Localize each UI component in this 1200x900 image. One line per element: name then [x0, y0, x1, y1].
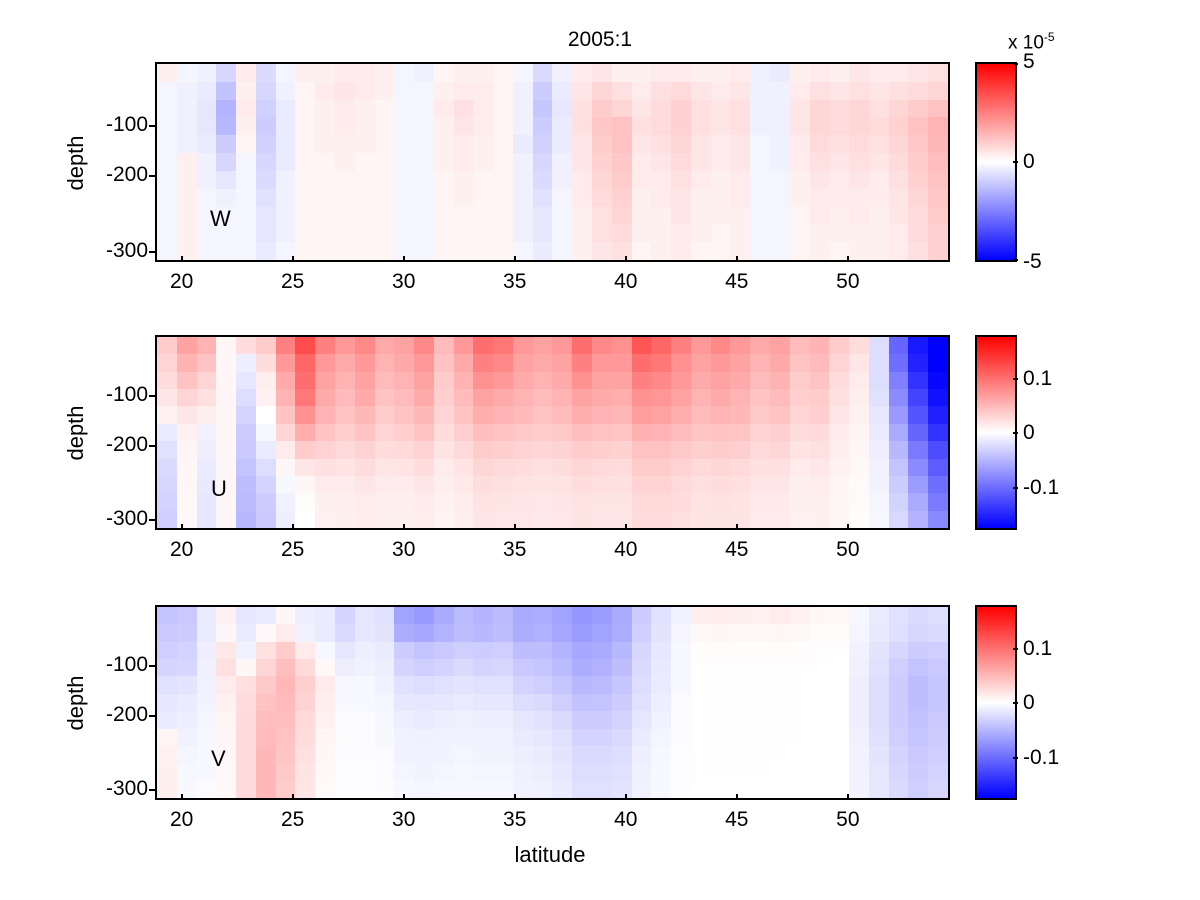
heatmap-cell: [612, 389, 632, 406]
heatmap-cell: [552, 729, 572, 746]
heatmap-cell: [473, 117, 493, 135]
heatmap-cell: [454, 659, 474, 676]
heatmap-cell: [750, 406, 770, 423]
heatmap-cell: [810, 659, 830, 676]
heatmap-cell: [295, 82, 315, 100]
heatmap-cell: [552, 642, 572, 659]
heatmap-cell: [513, 389, 533, 406]
heatmap-cell: [493, 337, 513, 354]
heatmap-cell: [928, 406, 948, 423]
heatmap-cell: [335, 153, 355, 171]
heatmap-cell: [928, 389, 948, 406]
heatmap-cell: [730, 372, 750, 389]
heatmap-cell: [473, 406, 493, 423]
heatmap-cell: [889, 459, 909, 476]
heatmap-cell: [394, 171, 414, 189]
heatmap-cell: [592, 135, 612, 153]
heatmap-cell: [355, 135, 375, 153]
heatmap-cell: [632, 459, 652, 476]
heatmap-cell: [315, 117, 335, 135]
heatmap-cell: [216, 189, 236, 207]
heatmap-cell: [552, 372, 572, 389]
heatmap-cell: [671, 389, 691, 406]
heatmap-cell: [612, 746, 632, 763]
heatmap-cell: [256, 511, 276, 528]
heatmap-cell: [750, 711, 770, 728]
heatmap-cell: [928, 729, 948, 746]
heatmap-cell: [197, 607, 217, 624]
x-tick-mark-v-4: [625, 794, 627, 800]
heatmap-cell: [473, 729, 493, 746]
heatmap-cell: [711, 424, 731, 441]
heatmap-cell: [197, 781, 217, 798]
heatmap-cell: [295, 711, 315, 728]
heatmap-cell: [849, 389, 869, 406]
heatmap-cell: [197, 406, 217, 423]
heatmap-cell: [513, 171, 533, 189]
heatmap-cell: [375, 659, 395, 676]
heatmap-cell: [829, 424, 849, 441]
x-tick-mark-w-1: [292, 256, 294, 262]
heatmap-cell: [236, 82, 256, 100]
heatmap-cell: [908, 406, 928, 423]
heatmap-cell: [473, 511, 493, 528]
heatmap-cell: [671, 746, 691, 763]
heatmap-cell: [849, 171, 869, 189]
heatmap-cell: [335, 676, 355, 693]
heatmap-cell: [928, 624, 948, 641]
heatmap-cell: [691, 372, 711, 389]
heatmap-cell: [236, 135, 256, 153]
heatmap-cell: [454, 372, 474, 389]
heatmap-cell: [572, 135, 592, 153]
heatmap-cell: [493, 64, 513, 82]
heatmap-cell: [513, 354, 533, 371]
heatmap-cell: [434, 729, 454, 746]
heatmap-cell: [216, 642, 236, 659]
heatmap-cell: [454, 153, 474, 171]
heatmap-cell: [335, 207, 355, 225]
heatmap-cell: [216, 117, 236, 135]
heatmap-grid-u: [157, 337, 948, 528]
heatmap-cell: [256, 171, 276, 189]
heatmap-cell: [810, 135, 830, 153]
heatmap-cell: [651, 676, 671, 693]
heatmap-cell: [750, 372, 770, 389]
heatmap-cell: [315, 746, 335, 763]
heatmap-cell: [632, 372, 652, 389]
heatmap-cell: [829, 207, 849, 225]
heatmap-cell: [197, 389, 217, 406]
heatmap-cell: [355, 642, 375, 659]
colorbar-tick-v-2: -0.1: [1023, 746, 1059, 770]
heatmap-cell: [513, 624, 533, 641]
heatmap-cell: [849, 189, 869, 207]
heatmap-cell: [889, 607, 909, 624]
heatmap-cell: [552, 424, 572, 441]
heatmap-cell: [473, 659, 493, 676]
heatmap-cell: [730, 354, 750, 371]
heatmap-cell: [849, 781, 869, 798]
heatmap-cell: [810, 441, 830, 458]
heatmap-cell: [454, 476, 474, 493]
heatmap-cell: [513, 189, 533, 207]
heatmap-cell: [454, 676, 474, 693]
heatmap-cell: [414, 729, 434, 746]
heatmap-cell: [572, 459, 592, 476]
heatmap-cell: [572, 117, 592, 135]
heatmap-cell: [197, 694, 217, 711]
heatmap-cell: [730, 424, 750, 441]
axes-w[interactable]: [155, 62, 950, 262]
heatmap-cell: [849, 135, 869, 153]
heatmap-cell: [295, 441, 315, 458]
heatmap-cell: [177, 459, 197, 476]
heatmap-cell: [810, 694, 830, 711]
heatmap-cell: [869, 694, 889, 711]
heatmap-cell: [335, 607, 355, 624]
heatmap-cell: [770, 135, 790, 153]
heatmap-cell: [533, 459, 553, 476]
heatmap-cell: [869, 135, 889, 153]
heatmap-cell: [375, 64, 395, 82]
heatmap-cell: [770, 100, 790, 118]
heatmap-cell: [691, 242, 711, 260]
heatmap-cell: [770, 659, 790, 676]
heatmap-cell: [810, 82, 830, 100]
heatmap-cell: [592, 424, 612, 441]
heatmap-cell: [276, 189, 296, 207]
colorbar-u[interactable]: [975, 335, 1017, 530]
heatmap-cell: [414, 676, 434, 693]
heatmap-cell: [315, 100, 335, 118]
heatmap-cell: [454, 242, 474, 260]
heatmap-cell: [493, 189, 513, 207]
heatmap-cell: [750, 607, 770, 624]
heatmap-cell: [513, 694, 533, 711]
heatmap-cell: [711, 82, 731, 100]
heatmap-cell: [513, 476, 533, 493]
heatmap-cell: [671, 511, 691, 528]
heatmap-cell: [315, 224, 335, 242]
heatmap-cell: [375, 153, 395, 171]
heatmap-cell: [375, 476, 395, 493]
heatmap-cell: [691, 135, 711, 153]
heatmap-cell: [849, 354, 869, 371]
heatmap-cell: [849, 207, 869, 225]
heatmap-cell: [651, 337, 671, 354]
heatmap-cell: [849, 763, 869, 780]
heatmap-cell: [276, 676, 296, 693]
heatmap-cell: [473, 781, 493, 798]
heatmap-cell: [790, 153, 810, 171]
heatmap-cell: [236, 624, 256, 641]
heatmap-cell: [592, 511, 612, 528]
heatmap-cell: [355, 242, 375, 260]
heatmap-cell: [375, 459, 395, 476]
heatmap-cell: [414, 100, 434, 118]
heatmap-cell: [394, 100, 414, 118]
heatmap-cell: [552, 476, 572, 493]
heatmap-cell: [829, 171, 849, 189]
heatmap-cell: [671, 493, 691, 510]
colorbar-tick-u-1: 0: [1023, 421, 1035, 445]
heatmap-cell: [572, 493, 592, 510]
heatmap-cell: [730, 441, 750, 458]
heatmap-cell: [612, 337, 632, 354]
heatmap-cell: [651, 607, 671, 624]
heatmap-cell: [928, 337, 948, 354]
heatmap-cell: [889, 82, 909, 100]
heatmap-cell: [355, 153, 375, 171]
axes-u[interactable]: [155, 335, 950, 530]
heatmap-cell: [691, 207, 711, 225]
heatmap-cell: [295, 224, 315, 242]
heatmap-cell: [572, 207, 592, 225]
heatmap-cell: [394, 642, 414, 659]
heatmap-cell: [889, 729, 909, 746]
heatmap-cell: [908, 64, 928, 82]
heatmap-cell: [552, 607, 572, 624]
heatmap-cell: [750, 100, 770, 118]
heatmap-cell: [908, 100, 928, 118]
heatmap-cell: [770, 171, 790, 189]
heatmap-cell: [375, 207, 395, 225]
heatmap-cell: [473, 242, 493, 260]
heatmap-cell: [632, 642, 652, 659]
heatmap-cell: [533, 493, 553, 510]
heatmap-cell: [177, 694, 197, 711]
heatmap-cell: [612, 242, 632, 260]
heatmap-cell: [335, 406, 355, 423]
heatmap-cell: [355, 493, 375, 510]
heatmap-cell: [454, 624, 474, 641]
heatmap-cell: [394, 746, 414, 763]
heatmap-cell: [414, 406, 434, 423]
heatmap-cell: [889, 424, 909, 441]
heatmap-cell: [592, 189, 612, 207]
heatmap-cell: [572, 659, 592, 676]
heatmap-cell: [908, 189, 928, 207]
heatmap-cell: [810, 354, 830, 371]
colorbar-tick-v-0: 0.1: [1023, 637, 1052, 661]
heatmap-cell: [177, 354, 197, 371]
heatmap-cell: [908, 354, 928, 371]
heatmap-cell: [414, 763, 434, 780]
heatmap-cell: [256, 624, 276, 641]
heatmap-cell: [513, 224, 533, 242]
heatmap-cell: [454, 171, 474, 189]
heatmap-cell: [730, 511, 750, 528]
heatmap-cell: [790, 642, 810, 659]
heatmap-cell: [829, 729, 849, 746]
heatmap-cell: [711, 337, 731, 354]
heatmap-cell: [375, 781, 395, 798]
x-tick-label-w-5: 45: [707, 270, 767, 294]
heatmap-cell: [612, 372, 632, 389]
heatmap-cell: [632, 224, 652, 242]
heatmap-cell: [493, 694, 513, 711]
heatmap-cell: [177, 424, 197, 441]
heatmap-cell: [197, 100, 217, 118]
heatmap-cell: [770, 64, 790, 82]
heatmap-cell: [473, 459, 493, 476]
heatmap-cell: [473, 624, 493, 641]
heatmap-cell: [216, 135, 236, 153]
colorbar-tick-mark-v-0: [1013, 648, 1018, 650]
colorbar-w[interactable]: [975, 62, 1017, 262]
heatmap-cell: [157, 659, 177, 676]
heatmap-cell: [454, 224, 474, 242]
heatmap-cell: [829, 337, 849, 354]
heatmap-cell: [157, 642, 177, 659]
heatmap-cell: [513, 100, 533, 118]
heatmap-cell: [869, 642, 889, 659]
heatmap-cell: [315, 493, 335, 510]
heatmap-cell: [375, 354, 395, 371]
heatmap-cell: [829, 135, 849, 153]
heatmap-cell: [790, 372, 810, 389]
heatmap-cell: [276, 64, 296, 82]
heatmap-cell: [276, 746, 296, 763]
axes-v[interactable]: [155, 605, 950, 800]
heatmap-cell: [493, 117, 513, 135]
colorbar-tick-u-2: -0.1: [1023, 476, 1059, 500]
heatmap-cell: [908, 171, 928, 189]
heatmap-cell: [849, 100, 869, 118]
heatmap-cell: [928, 64, 948, 82]
heatmap-cell: [157, 729, 177, 746]
heatmap-cell: [750, 135, 770, 153]
heatmap-cell: [394, 153, 414, 171]
heatmap-cell: [612, 171, 632, 189]
heatmap-cell: [533, 189, 553, 207]
x-tick-mark-u-3: [514, 524, 516, 530]
heatmap-cell: [711, 207, 731, 225]
heatmap-cell: [177, 746, 197, 763]
heatmap-cell: [335, 659, 355, 676]
heatmap-cell: [770, 459, 790, 476]
heatmap-cell: [671, 781, 691, 798]
heatmap-cell: [355, 117, 375, 135]
heatmap-cell: [295, 153, 315, 171]
heatmap-cell: [394, 354, 414, 371]
heatmap-cell: [810, 242, 830, 260]
heatmap-cell: [730, 476, 750, 493]
y-tick-label-v-0: -100: [60, 653, 148, 677]
heatmap-cell: [869, 624, 889, 641]
heatmap-cell: [651, 711, 671, 728]
heatmap-cell: [908, 224, 928, 242]
heatmap-cell: [869, 729, 889, 746]
heatmap-cell: [335, 511, 355, 528]
heatmap-cell: [908, 624, 928, 641]
heatmap-cell: [869, 354, 889, 371]
heatmap-cell: [849, 337, 869, 354]
heatmap-cell: [177, 676, 197, 693]
heatmap-cell: [869, 711, 889, 728]
heatmap-cell: [216, 337, 236, 354]
heatmap-cell: [592, 64, 612, 82]
heatmap-cell: [414, 189, 434, 207]
heatmap-cell: [928, 476, 948, 493]
heatmap-cell: [552, 100, 572, 118]
heatmap-cell: [197, 135, 217, 153]
heatmap-cell: [355, 406, 375, 423]
heatmap-cell: [315, 642, 335, 659]
heatmap-cell: [730, 711, 750, 728]
heatmap-cell: [197, 354, 217, 371]
heatmap-cell: [632, 676, 652, 693]
heatmap-cell: [197, 676, 217, 693]
heatmap-cell: [908, 389, 928, 406]
heatmap-cell: [473, 171, 493, 189]
heatmap-cell: [513, 117, 533, 135]
heatmap-cell: [849, 659, 869, 676]
heatmap-cell: [592, 493, 612, 510]
heatmap-cell: [691, 476, 711, 493]
heatmap-cell: [315, 171, 335, 189]
heatmap-cell: [592, 746, 612, 763]
heatmap-cell: [928, 424, 948, 441]
heatmap-cell: [434, 207, 454, 225]
heatmap-cell: [928, 511, 948, 528]
heatmap-cell: [355, 82, 375, 100]
heatmap-cell: [157, 82, 177, 100]
heatmap-cell: [335, 100, 355, 118]
heatmap-cell: [829, 711, 849, 728]
heatmap-cell: [157, 694, 177, 711]
heatmap-cell: [533, 711, 553, 728]
heatmap-cell: [651, 207, 671, 225]
heatmap-cell: [750, 337, 770, 354]
heatmap-cell: [691, 100, 711, 118]
x-tick-label-v-3: 35: [485, 808, 545, 832]
heatmap-cell: [236, 476, 256, 493]
x-tick-mark-v-0: [181, 794, 183, 800]
heatmap-cell: [295, 746, 315, 763]
heatmap-cell: [177, 493, 197, 510]
heatmap-cell: [276, 135, 296, 153]
heatmap-cell: [177, 642, 197, 659]
heatmap-cell: [276, 82, 296, 100]
heatmap-cell: [928, 441, 948, 458]
heatmap-cell: [829, 372, 849, 389]
heatmap-cell: [276, 100, 296, 118]
heatmap-cell: [434, 607, 454, 624]
heatmap-cell: [295, 389, 315, 406]
colorbar-v[interactable]: [975, 605, 1017, 800]
heatmap-cell: [434, 476, 454, 493]
heatmap-cell: [375, 135, 395, 153]
heatmap-cell: [493, 511, 513, 528]
heatmap-cell: [434, 389, 454, 406]
heatmap-cell: [632, 82, 652, 100]
heatmap-cell: [889, 511, 909, 528]
heatmap-cell: [908, 659, 928, 676]
heatmap-cell: [513, 372, 533, 389]
heatmap-cell: [928, 207, 948, 225]
heatmap-cell: [473, 64, 493, 82]
heatmap-cell: [414, 117, 434, 135]
heatmap-cell: [276, 389, 296, 406]
heatmap-cell: [295, 642, 315, 659]
heatmap-cell: [414, 82, 434, 100]
heatmap-cell: [335, 117, 355, 135]
heatmap-cell: [651, 406, 671, 423]
heatmap-cell: [276, 406, 296, 423]
colorbar-tick-mark-u-0: [1013, 378, 1018, 380]
